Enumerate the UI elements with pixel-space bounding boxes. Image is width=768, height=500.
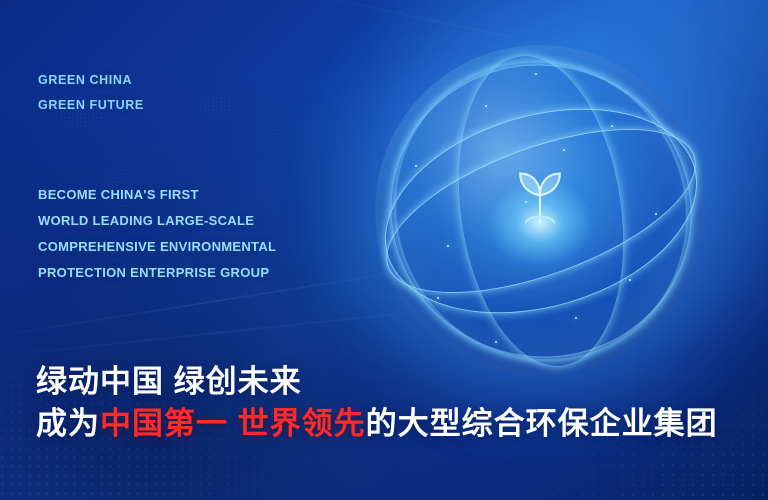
chinese-headline-line2: 成为中国第一 世界领先的大型综合环保企业集团 xyxy=(36,402,718,446)
sprout-leaf-icon xyxy=(495,152,585,242)
headline-prefix: 成为 xyxy=(36,406,100,441)
english-slogan-line: COMPREHENSIVE ENVIRONMENTAL xyxy=(38,234,276,260)
english-tagline-top: GREEN CHINA GREEN FUTURE xyxy=(38,68,144,118)
headline-highlight: 中国第一 世界领先 xyxy=(100,406,366,441)
english-tagline-line: GREEN FUTURE xyxy=(38,93,144,118)
headline-suffix: 的大型综合环保企业集团 xyxy=(366,406,718,441)
chinese-headline-line1: 绿动中国 绿创未来 xyxy=(36,362,718,402)
english-slogan-line: PROTECTION ENTERPRISE GROUP xyxy=(38,260,276,286)
glowing-wireframe-globe xyxy=(375,45,705,375)
english-slogan-line: BECOME CHINA'S FIRST xyxy=(38,182,276,208)
english-slogan-line: WORLD LEADING LARGE-SCALE xyxy=(38,208,276,234)
english-tagline-line: GREEN CHINA xyxy=(38,68,144,93)
hero-banner: GREEN CHINA GREEN FUTURE BECOME CHINA'S … xyxy=(0,0,768,500)
chinese-headline: 绿动中国 绿创未来 成为中国第一 世界领先的大型综合环保企业集团 xyxy=(36,362,718,446)
english-slogan: BECOME CHINA'S FIRST WORLD LEADING LARGE… xyxy=(38,182,276,286)
